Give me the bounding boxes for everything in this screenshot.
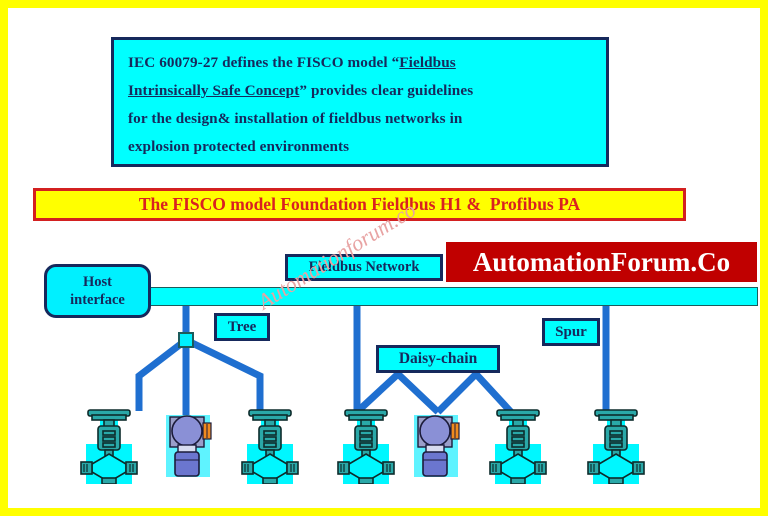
transmitter-icon bbox=[412, 413, 464, 479]
label-daisy-chain: Daisy-chain bbox=[376, 345, 500, 373]
fieldbus-trunk-bus bbox=[144, 287, 758, 306]
wire-tree-branch-right bbox=[186, 340, 260, 411]
brand-logo-text: AutomationForum.Co bbox=[473, 247, 730, 278]
transmitter-icon bbox=[164, 413, 216, 479]
poster-canvas: IEC 60079-27 defines the FISCO model “Fi… bbox=[8, 8, 760, 508]
label-spur: Spur bbox=[542, 318, 600, 346]
brand-logo: AutomationForum.Co bbox=[446, 242, 757, 282]
label-tree: Tree bbox=[214, 313, 270, 341]
host-interface-line-1: Host bbox=[83, 273, 112, 291]
control-valve-icon bbox=[487, 404, 549, 484]
field-device-valve-4 bbox=[487, 404, 549, 489]
field-device-transmitter-2 bbox=[412, 413, 464, 484]
control-valve-icon bbox=[335, 404, 397, 484]
poster-page: IEC 60079-27 defines the FISCO model “Fi… bbox=[0, 0, 768, 516]
tree-junction-box bbox=[178, 332, 194, 348]
control-valve-icon bbox=[78, 404, 140, 484]
control-valve-icon bbox=[585, 404, 647, 484]
label-fieldbus-network: Fieldbus Network bbox=[285, 254, 443, 281]
host-interface-line-2: interface bbox=[70, 291, 125, 309]
wire-tree-branch-left bbox=[139, 340, 186, 411]
field-device-valve-1 bbox=[78, 404, 140, 489]
field-device-valve-3 bbox=[335, 404, 397, 489]
field-device-valve-5 bbox=[585, 404, 647, 489]
field-device-transmitter-1 bbox=[164, 413, 216, 484]
host-interface-box: Host interface bbox=[44, 264, 151, 318]
field-device-valve-2 bbox=[239, 404, 301, 489]
control-valve-icon bbox=[239, 404, 301, 484]
